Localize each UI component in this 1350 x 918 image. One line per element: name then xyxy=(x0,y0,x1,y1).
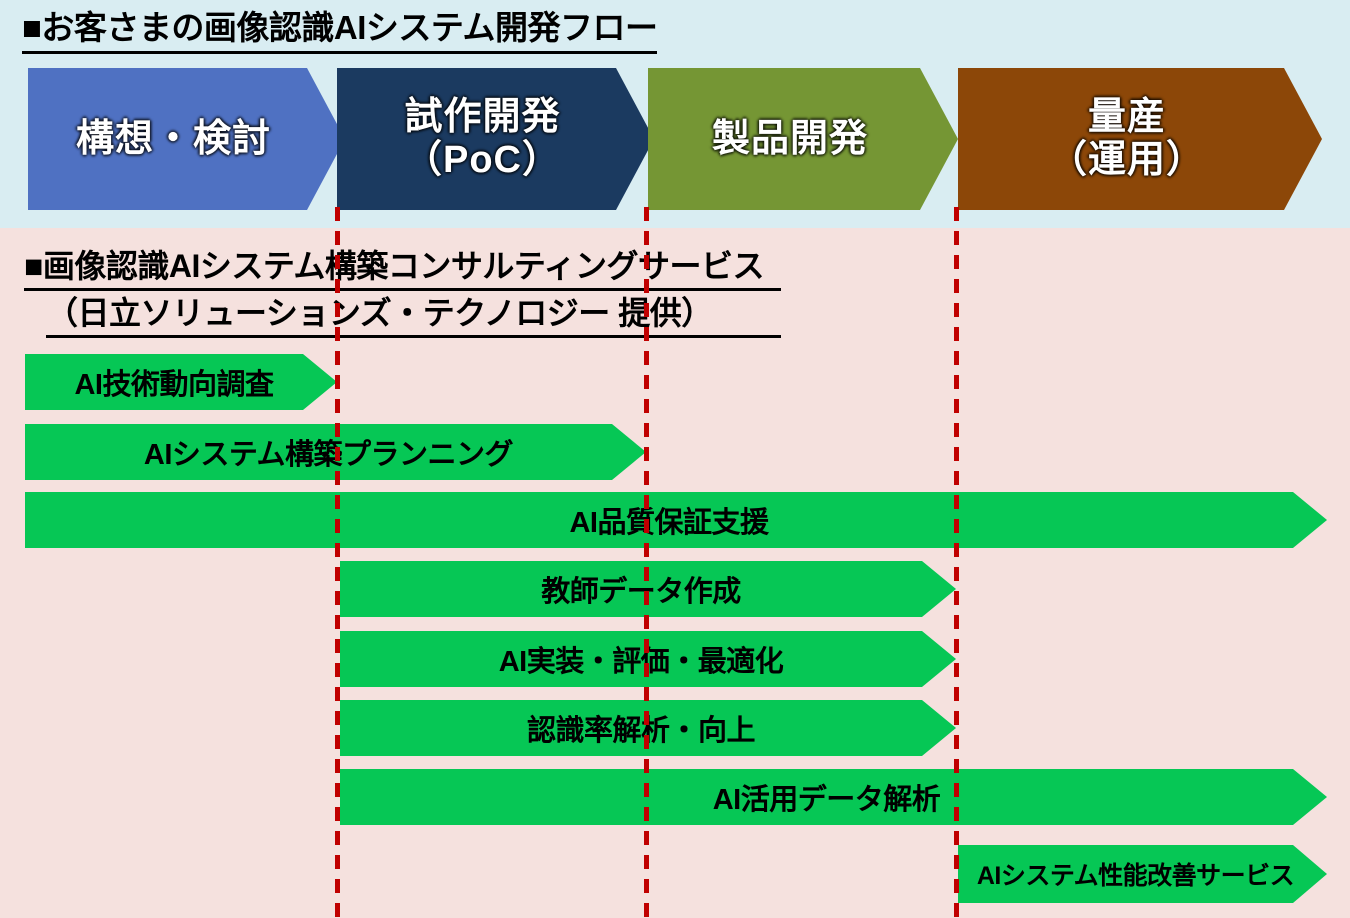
service-bar-label: AI技術動向調査 xyxy=(74,361,287,403)
phase-divider-2 xyxy=(644,207,649,918)
phase-arrow-poc-label: 試作開発 （PoC） xyxy=(404,96,587,181)
phase-arrow-mass-production-label: 量産 （運用） xyxy=(1049,96,1231,181)
slide-root: ■お客さまの画像認識AIシステム開発フロー 構想・検討 試作開発 （PoC） 製… xyxy=(0,0,1350,918)
phase-arrow-poc-label-line2: （PoC） xyxy=(404,139,561,181)
service-section-heading-line1: ■画像認識AIシステム構築コンサルティングサービス xyxy=(24,244,781,291)
phase-arrow-poc-label-line1: 試作開発 xyxy=(404,96,560,138)
service-bar-ai-system-performance-improvement[interactable]: AIシステム性能改善サービス xyxy=(958,845,1327,903)
phase-divider-1 xyxy=(335,207,340,918)
service-section-heading-line2: （日立ソリューションズ・テクノロジー 提供） xyxy=(46,291,781,338)
phase-arrow-mass-production[interactable]: 量産 （運用） xyxy=(958,68,1322,210)
service-bar-ai-quality-assurance[interactable]: AI品質保証支援 xyxy=(25,492,1327,548)
service-bar-label: AIシステム性能改善サービス xyxy=(977,856,1308,892)
phase-arrow-mass-production-label-line2: （運用） xyxy=(1049,139,1205,181)
phase-arrow-concept[interactable]: 構想・検討 xyxy=(28,68,345,210)
phase-divider-3 xyxy=(954,207,959,918)
phase-arrow-concept-label: 構想・検討 xyxy=(76,118,297,161)
phase-arrow-product-dev-label: 製品開発 xyxy=(712,118,894,161)
phase-arrow-poc[interactable]: 試作開発 （PoC） xyxy=(337,68,654,210)
service-bar-label: AI品質保証支援 xyxy=(569,499,782,541)
flow-section-heading: ■お客さまの画像認識AIシステム開発フロー xyxy=(22,6,657,54)
service-section-heading: ■画像認識AIシステム構築コンサルティングサービス （日立ソリューションズ・テク… xyxy=(24,244,781,338)
service-bar-ai-data-analysis[interactable]: AI活用データ解析 xyxy=(340,769,1327,825)
phase-arrow-product-dev[interactable]: 製品開発 xyxy=(648,68,958,210)
service-bar-ai-tech-trend-survey[interactable]: AI技術動向調査 xyxy=(25,354,337,410)
service-bar-label: AI活用データ解析 xyxy=(713,776,955,818)
phase-arrow-mass-production-label-line1: 量産 xyxy=(1088,96,1166,138)
